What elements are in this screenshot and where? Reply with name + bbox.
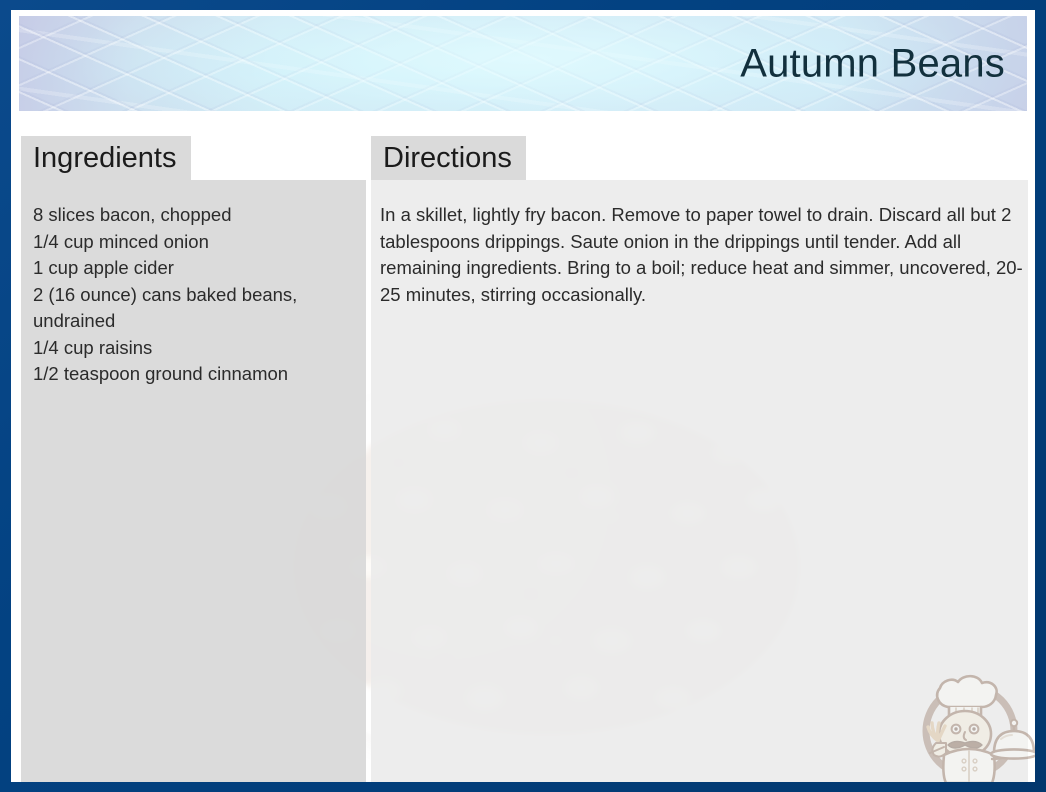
recipe-card-page: Autumn Beans Ingredients 8 slices bacon,… <box>0 0 1046 792</box>
list-item: 1 cup apple cider <box>33 255 355 282</box>
recipe-card: Autumn Beans Ingredients 8 slices bacon,… <box>11 10 1035 782</box>
ingredients-heading: Ingredients <box>21 136 191 180</box>
list-item: 2 (16 ounce) cans baked beans, undrained <box>33 282 355 335</box>
list-item: 8 slices bacon, chopped <box>33 202 355 229</box>
title-banner: Autumn Beans <box>19 16 1027 111</box>
list-item: 1/4 cup minced onion <box>33 229 355 256</box>
directions-paragraph: In a skillet, lightly fry bacon. Remove … <box>380 202 1025 308</box>
page-title: Autumn Beans <box>740 41 1005 86</box>
directions-heading: Directions <box>371 136 526 180</box>
ingredients-list: 8 slices bacon, chopped 1/4 cup minced o… <box>33 202 355 388</box>
directions-text-block: In a skillet, lightly fry bacon. Remove … <box>380 202 1025 308</box>
list-item: 1/4 cup raisins <box>33 335 355 362</box>
list-item: 1/2 teaspoon ground cinnamon <box>33 361 355 388</box>
